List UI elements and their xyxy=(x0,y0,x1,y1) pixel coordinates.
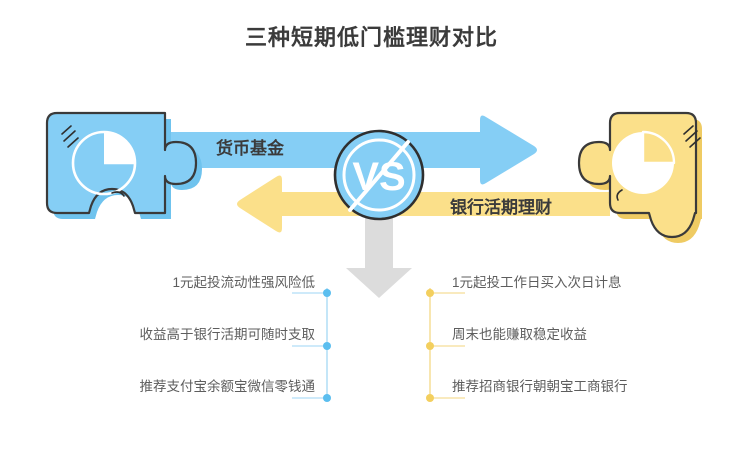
list-item: 推荐支付宝余额宝微信零钱通 xyxy=(77,376,327,428)
puzzle-piece-money-fund xyxy=(47,113,202,219)
feature-list-bank-demand: 1元起投工作日买入次日计息 周末也能赚取稳定收益 推荐招商银行朝朝宝工商银行 xyxy=(440,272,690,428)
puzzle-piece-bank-demand xyxy=(579,113,702,243)
feature-list-money-fund: 1元起投流动性强风险低 收益高于银行活期可随时支取 推荐支付宝余额宝微信零钱通 xyxy=(77,272,327,428)
list-item: 推荐招商银行朝朝宝工商银行 xyxy=(440,376,690,428)
list-item: 1元起投工作日买入次日计息 xyxy=(440,272,690,324)
arrow-label-bank-demand: 银行活期理财 xyxy=(450,193,552,218)
arrow-bank-demand xyxy=(237,176,610,233)
list-item: 1元起投流动性强风险低 xyxy=(77,272,327,324)
list-item: 周末也能赚取稳定收益 xyxy=(440,324,690,376)
vs-badge: VS xyxy=(335,131,423,219)
list-item: 收益高于银行活期可随时支取 xyxy=(77,324,327,376)
infographic-canvas: 三种短期低门槛理财对比 xyxy=(0,0,743,471)
arrow-label-money-fund: 货币基金 xyxy=(216,134,284,159)
